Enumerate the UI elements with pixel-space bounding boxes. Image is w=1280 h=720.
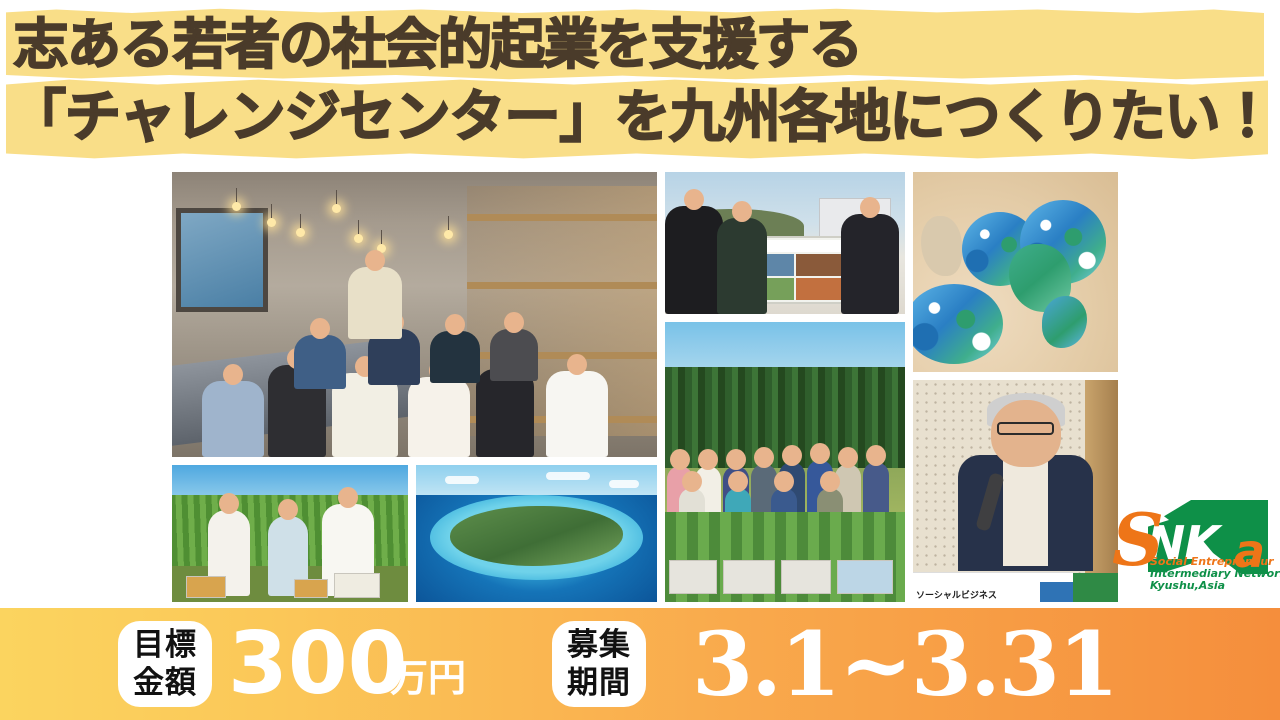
crate xyxy=(837,560,893,594)
speaker-shirt xyxy=(1003,460,1048,567)
person xyxy=(408,377,470,457)
person xyxy=(490,329,538,381)
person xyxy=(294,335,346,389)
logo-tagline-line-3: Kyushu,Asia xyxy=(1150,580,1225,592)
period-badge-line-2: 期間 xyxy=(567,664,631,702)
title-area: 志ある若者の社会的起業を支援する 「チャレンジセンター」を九州各地につくりたい！ xyxy=(0,0,1280,168)
person xyxy=(476,369,534,457)
goal-badge-line-1: 目標 xyxy=(133,626,197,664)
recycled-plastic-coasters xyxy=(913,172,1118,372)
speaker-portrait: ソーシャルビジネス xyxy=(913,380,1118,602)
crate xyxy=(723,560,775,594)
person xyxy=(202,381,264,457)
page-title-line-1: 志ある若者の社会的起業を支援する xyxy=(14,18,862,72)
farm-harvest xyxy=(172,465,408,602)
crate xyxy=(186,576,226,598)
aerial-island xyxy=(416,465,657,602)
person xyxy=(430,331,480,383)
goal-badge-line-2: 金額 xyxy=(133,664,197,702)
sinka-logo: iNK S a Social Entrepreneur Intermediary… xyxy=(1112,498,1274,602)
person xyxy=(665,206,723,314)
campaign-period-value: 3.1~3.31 xyxy=(692,612,1117,716)
goal-amount-value: 300 xyxy=(228,614,408,714)
person xyxy=(841,214,899,314)
crate xyxy=(781,560,831,594)
campaign-summary-bar: 目標 金額 300 万円 募集 期間 3.1~3.31 xyxy=(0,608,1280,720)
goal-amount-unit: 万円 xyxy=(390,656,466,700)
crate xyxy=(334,573,380,598)
page-title-line-2: 「チャレンジセンター」を九州各地につくりたい！ xyxy=(10,90,1274,146)
goal-amount-badge: 目標 金額 xyxy=(118,621,212,707)
crate xyxy=(294,579,328,598)
group-photo-cafe xyxy=(172,172,657,457)
cafe-window xyxy=(176,208,268,312)
event-sign-blue-block xyxy=(1040,582,1073,602)
crate xyxy=(669,560,717,594)
forest-volunteers xyxy=(665,322,905,602)
glasses-icon xyxy=(997,422,1054,435)
photo-collage: ソーシャルビジネス xyxy=(172,172,1094,602)
person xyxy=(717,218,767,314)
person xyxy=(546,371,608,457)
person xyxy=(348,267,402,339)
period-badge-line-1: 募集 xyxy=(567,626,631,664)
event-sign-label: ソーシャルビジネス xyxy=(916,588,997,601)
campaign-period-badge: 募集 期間 xyxy=(552,621,646,707)
poster-presentation xyxy=(665,172,905,314)
person xyxy=(863,462,889,514)
